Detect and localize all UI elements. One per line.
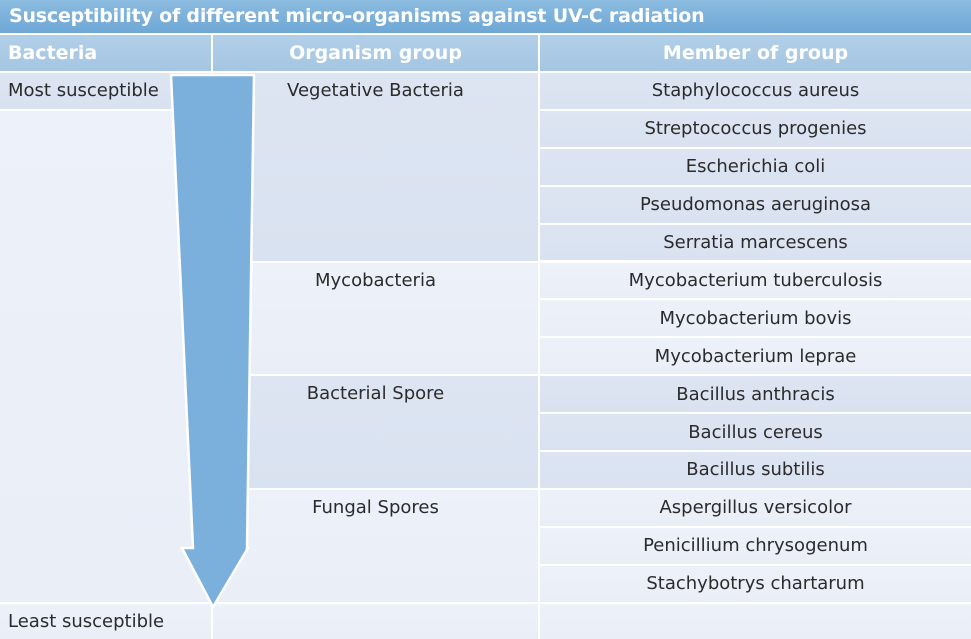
member-of-group-cell: Streptococcus progenies: [540, 111, 971, 147]
member-of-group-cell: Stachybotrys chartarum: [540, 566, 971, 602]
member-of-group-cell: Bacillus subtilis: [540, 452, 971, 488]
member-of-group-cell: Escherichia coli: [540, 149, 971, 185]
organism-group-cell: Fungal Spores: [213, 490, 538, 602]
member-of-group-cell: Mycobacterium bovis: [540, 300, 971, 336]
organism-group-filler: [213, 604, 538, 639]
organism-group-cell: Mycobacteria: [213, 263, 538, 375]
column-header-organism-group: Organism group: [213, 35, 538, 71]
column-header-bacteria: Bacteria: [0, 35, 211, 71]
member-of-group-cell: Aspergillus versicolor: [540, 490, 971, 526]
member-of-group-cell: Penicillium chrysogenum: [540, 528, 971, 564]
least-susceptible-label: Least susceptible: [0, 604, 211, 639]
bacteria-column-filler: [0, 111, 211, 602]
organism-group-cell: Vegetative Bacteria: [213, 73, 538, 261]
table-body: Vegetative BacteriaStaphylococcus aureus…: [0, 73, 971, 622]
susceptibility-table: Susceptibility of different micro-organi…: [0, 0, 971, 622]
member-of-group-cell: Pseudomonas aeruginosa: [540, 187, 971, 223]
member-of-group-cell: Mycobacterium leprae: [540, 338, 971, 374]
organism-group-cell: Bacterial Spore: [213, 376, 538, 488]
member-of-group-filler: [540, 604, 971, 639]
member-of-group-cell: Staphylococcus aureus: [540, 73, 971, 109]
member-of-group-cell: Bacillus anthracis: [540, 376, 971, 412]
member-of-group-cell: Bacillus cereus: [540, 414, 971, 450]
member-of-group-cell: Mycobacterium tuberculosis: [540, 263, 971, 299]
column-header-row: Bacteria Organism group Member of group: [0, 35, 971, 71]
member-of-group-cell: Serratia marcescens: [540, 225, 971, 261]
most-susceptible-label: Most susceptible: [0, 73, 211, 109]
page-title: Susceptibility of different micro-organi…: [9, 5, 704, 27]
column-header-member-of-group: Member of group: [540, 35, 971, 71]
table-title-bar: Susceptibility of different micro-organi…: [0, 0, 971, 33]
